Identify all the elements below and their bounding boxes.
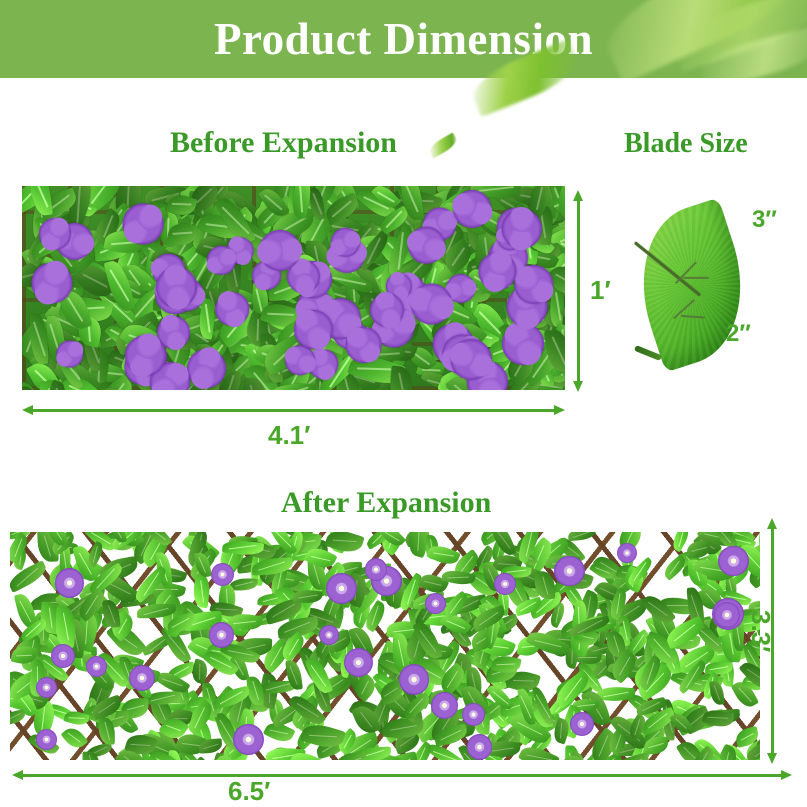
purple-flower bbox=[399, 664, 429, 694]
dimension-arrow-width-after bbox=[12, 770, 792, 780]
dimension-label-blade-length: 3″ bbox=[752, 206, 777, 234]
purple-flower bbox=[211, 563, 234, 586]
purple-flower bbox=[209, 622, 235, 648]
leaf-shape bbox=[292, 589, 322, 604]
arrow-tip-bottom bbox=[573, 381, 583, 392]
leaf-illustration bbox=[632, 200, 758, 380]
page-title: Product Dimension bbox=[0, 0, 807, 78]
product-image-before-expansion bbox=[22, 186, 565, 390]
arrow-line bbox=[30, 409, 557, 412]
purple-flower bbox=[494, 573, 516, 595]
leaf-texture bbox=[10, 532, 760, 760]
purple-flower bbox=[554, 556, 585, 587]
leaf-blade-icon bbox=[427, 132, 459, 158]
purple-flower bbox=[570, 712, 594, 736]
leaf-vein bbox=[675, 261, 697, 284]
header-banner: Product Dimension bbox=[0, 0, 807, 78]
purple-flower bbox=[129, 665, 155, 691]
purple-flower bbox=[425, 593, 446, 614]
leaf-shape bbox=[10, 709, 26, 726]
purple-flower bbox=[431, 692, 458, 719]
section-title-after: After Expansion bbox=[281, 486, 491, 520]
leaf-shape bbox=[389, 366, 414, 390]
purple-flower bbox=[617, 543, 637, 563]
purple-flower bbox=[36, 729, 57, 750]
dimension-label-blade-width: 2″ bbox=[726, 320, 751, 348]
leaf-shape bbox=[61, 723, 89, 752]
dimension-label-height-after: 3.3′ bbox=[745, 610, 776, 652]
leaf-shape bbox=[568, 532, 597, 542]
infographic-canvas: Product Dimension Before Expansion Blade… bbox=[0, 0, 807, 807]
purple-flower bbox=[319, 625, 339, 645]
product-image-after-expansion bbox=[10, 532, 760, 760]
arrow-tip-right bbox=[781, 770, 792, 780]
arrow-line bbox=[577, 198, 580, 384]
purple-flower bbox=[714, 602, 741, 629]
dimension-label-width-before: 4.1′ bbox=[268, 420, 310, 451]
purple-flower bbox=[55, 568, 84, 597]
dimension-arrow-width-before bbox=[22, 405, 565, 415]
dimension-label-width-after: 6.5′ bbox=[228, 776, 270, 807]
dimension-arrow-height-before bbox=[573, 190, 583, 392]
purple-flower bbox=[86, 656, 107, 677]
leaf-vein bbox=[681, 315, 705, 319]
section-title-blade: Blade Size bbox=[624, 128, 748, 160]
purple-flower bbox=[365, 558, 387, 580]
arrow-tip-bottom bbox=[767, 753, 777, 764]
purple-flower bbox=[718, 546, 748, 576]
arrow-line bbox=[20, 774, 784, 777]
arrow-tip-right bbox=[554, 405, 565, 415]
leaf-shape bbox=[644, 737, 669, 755]
section-title-before: Before Expansion bbox=[170, 126, 397, 160]
purple-flower bbox=[344, 648, 373, 677]
leaf-shape bbox=[337, 752, 368, 760]
purple-flower bbox=[51, 644, 75, 668]
leaf-texture bbox=[22, 186, 565, 390]
leaf-vein bbox=[683, 277, 709, 279]
purple-flower bbox=[36, 677, 57, 698]
purple-flower bbox=[453, 190, 492, 229]
leaf-shape bbox=[230, 577, 258, 590]
dimension-label-height-before: 1′ bbox=[590, 275, 611, 306]
purple-flower bbox=[233, 724, 264, 755]
